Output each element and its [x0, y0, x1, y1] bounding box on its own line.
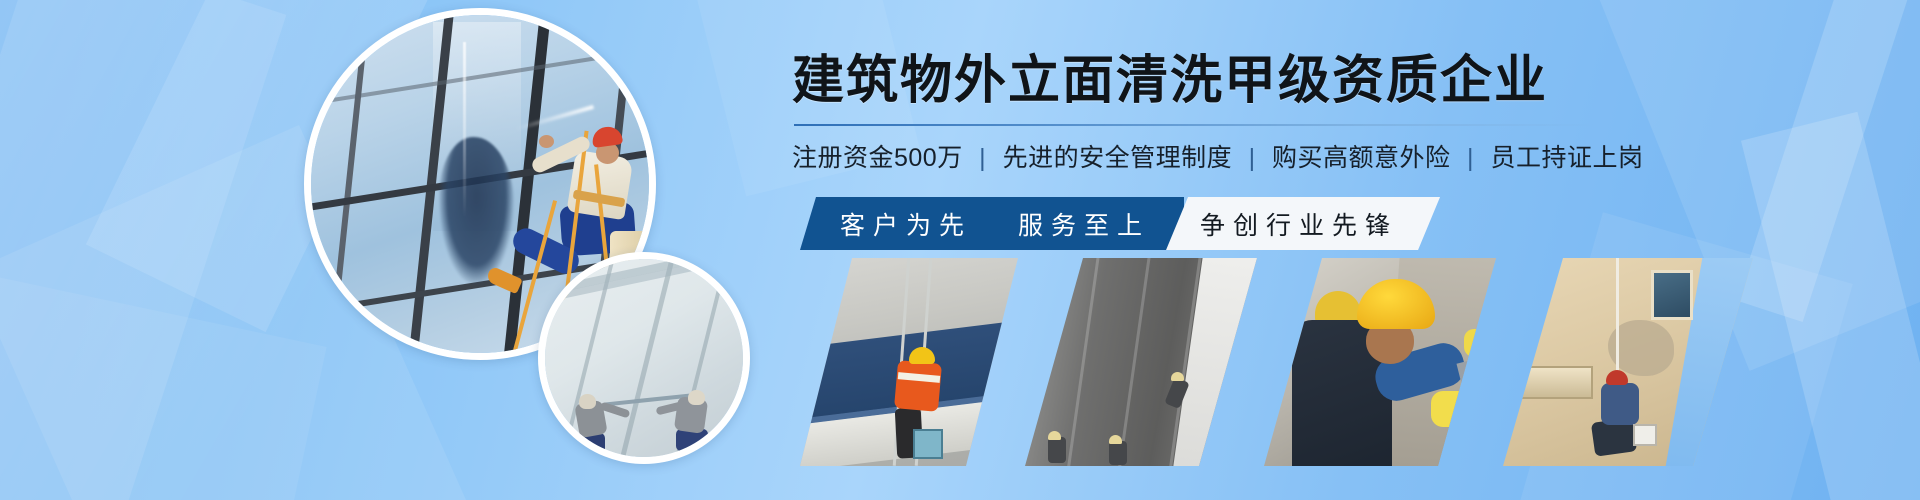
photo-slice-1 [800, 258, 1018, 466]
photo-closeup-plasterer [1264, 258, 1496, 466]
facade-worker-1-head [579, 394, 596, 409]
yellow-helmet-icon [909, 347, 935, 364]
photo-slice-3 [1264, 258, 1496, 466]
subtitle-part-1: 注册资金500万 [792, 144, 963, 172]
slogan-blue-2: 服务至上 [1018, 206, 1150, 242]
slice4-window [1651, 270, 1693, 320]
photo-strip [800, 258, 1808, 466]
photo-slice-4 [1503, 258, 1753, 466]
subtitle-part-4: 员工持证上岗 [1490, 144, 1643, 172]
yellow-glove-2 [1464, 329, 1496, 357]
slice2-worker-2 [1109, 441, 1127, 465]
promo-banner: 建筑物外立面清洗甲级资质企业 注册资金500万 | 先进的安全管理制度 | 购买… [0, 0, 1920, 500]
photo-orange-vest-worker [800, 258, 1018, 466]
slice4-pail [1633, 424, 1657, 446]
subtitle-separator-2: | [1240, 144, 1265, 172]
headline-underline [794, 124, 1598, 126]
orange-safety-vest [894, 360, 942, 412]
slice2-helmet-3 [1171, 372, 1184, 381]
banner-text-block: 建筑物外立面清洗甲级资质企业 注册资金500万 | 先进的安全管理制度 | 购买… [792, 52, 1902, 174]
subtitle-part-3: 购买高额意外险 [1272, 144, 1451, 172]
photo-grey-concrete-wall [1025, 258, 1257, 466]
slice4-worker-body [1601, 383, 1639, 425]
slice4-balcony [1503, 366, 1593, 399]
red-hardhat-icon [1606, 370, 1628, 385]
slice2-helmet-2 [1109, 435, 1122, 444]
circle-photo-small [538, 252, 750, 464]
slice2-worker-1 [1048, 437, 1066, 463]
facade-worker-1-legs [575, 433, 605, 455]
yellow-glove-1 [1431, 391, 1477, 427]
facade-worker-2-legs [676, 429, 708, 451]
slogan-ribbon: 客户为先 服务至上 争创行业先锋 [800, 197, 1464, 250]
slogan-ribbon-white: 争创行业先锋 [1166, 197, 1440, 250]
photo-pale-facade [545, 259, 743, 457]
banner-headline: 建筑物外立面清洗甲级资质企业 [792, 52, 1902, 110]
slogan-ribbon-blue: 客户为先 服务至上 [800, 197, 1184, 250]
facade-worker-2-head [688, 390, 705, 405]
slice2-rope-1 [1062, 258, 1103, 466]
subtitle-separator-1: | [970, 144, 995, 172]
slice1-paint-bucket [913, 429, 943, 459]
water-streak [463, 42, 466, 218]
photo-beige-building-worker [1503, 258, 1753, 466]
slice2-rope-2 [1113, 258, 1154, 466]
subtitle-part-2: 先进的安全管理制度 [1003, 144, 1233, 172]
slice2-helmet-1 [1048, 431, 1061, 440]
photo-slice-2 [1025, 258, 1257, 466]
subtitle-separator-3: | [1458, 144, 1483, 172]
banner-subtitle: 注册资金500万 | 先进的安全管理制度 | 购买高额意外险 | 员工持证上岗 [792, 138, 1902, 174]
slogan-blue-1: 客户为先 [840, 206, 972, 242]
slice2-sky [1169, 258, 1257, 466]
